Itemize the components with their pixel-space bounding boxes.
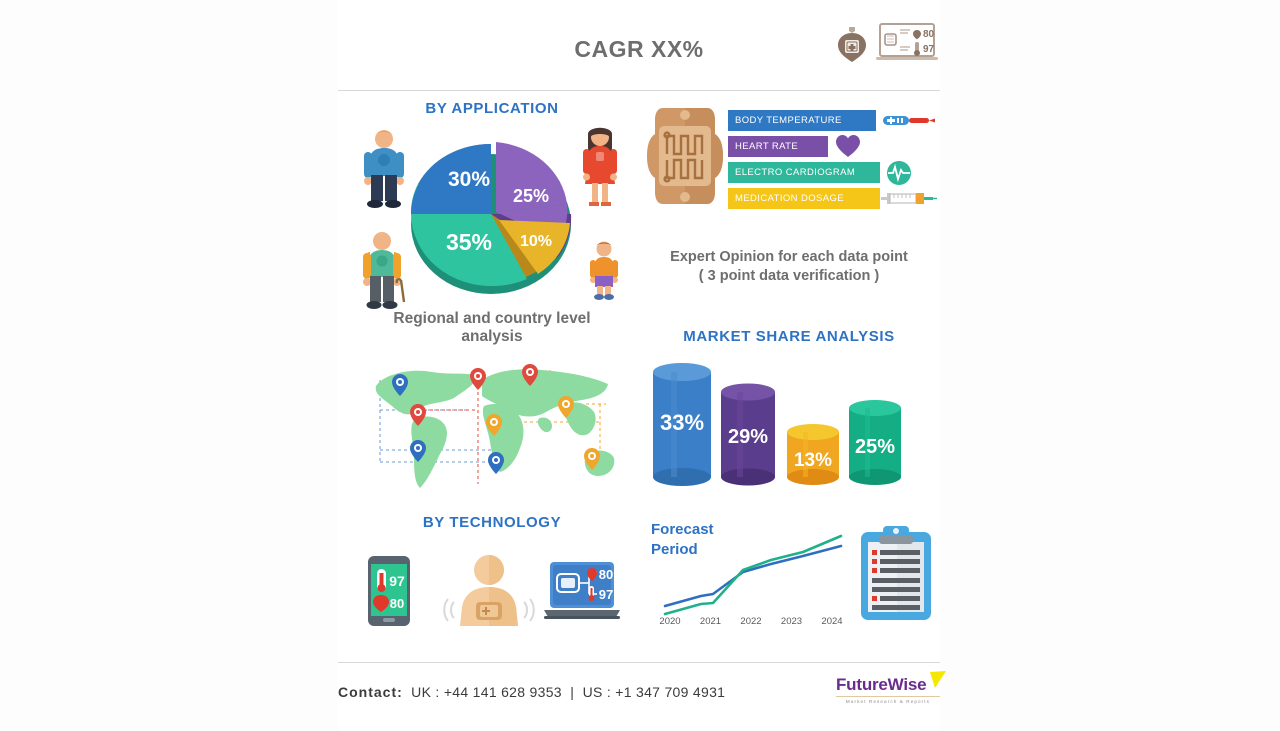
thermometer-icon [883,113,935,133]
cylinder-bar-2: 29% [721,384,775,486]
laptop-vitals-icon: 80 97 [876,23,938,68]
phone-heart-value: 80 [390,596,404,611]
heart-icon [835,134,861,163]
pie-label-35: 35% [446,229,492,255]
market-share-title: MARKET SHARE ANALYSIS [643,328,935,345]
expert-opinion-note: Expert Opinion for each data point ( 3 p… [643,248,935,286]
section-by-application: BY APPLICATION [352,100,632,330]
biosensor-patch-icon [643,104,727,213]
footer-divider [338,662,940,663]
expert-note-line2: ( 3 point data verification ) [643,267,935,286]
regional-title-line2: analysis [352,328,632,346]
world-map [370,362,616,500]
infographic-page: CAGR XX% [0,0,1280,731]
person-adult-woman-icon [577,124,623,215]
year-label: 2024 [813,616,851,627]
page-canvas: CAGR XX% [338,0,940,731]
header: CAGR XX% [338,18,940,73]
brand-tagline: Market Research & Reports [836,699,940,704]
person-elderly-man-icon [360,230,412,315]
us-phone[interactable]: +1 347 709 4931 [615,684,725,700]
forecast-series-green [665,536,841,614]
cylinder-bar-4: 25% [849,400,901,485]
regional-title-line1: Regional and country level [352,310,632,328]
cylinder-bar-chart: 33% 29% [643,358,935,493]
label-heart-rate: HEART RATE [728,136,828,157]
cyl-label-13: 13% [794,450,832,471]
pie-label-10: 10% [520,233,552,250]
smartphone-vitals-icon: 97 80 [368,556,410,631]
laptop-tech-heart-value: 80 [599,567,613,582]
section-by-technology: BY TECHNOLOGY 97 80 [352,514,632,654]
laptop-heart-value: 80 [923,29,935,40]
brand-name: FutureWise [836,675,926,694]
person-child-boy-icon [588,240,620,307]
footer: Contact: UK : +44 141 628 9353 | US : +1… [338,672,940,722]
by-application-title: BY APPLICATION [352,100,632,117]
label-body-temperature: BODY TEMPERATURE [728,110,876,131]
cylinder-bar-3: 13% [787,424,839,485]
technology-icon-group: 97 80 [362,554,622,649]
contact-separator: | [570,684,574,700]
forecast-year-axis: 2020 2021 2022 2023 2024 [651,616,851,627]
forecast-series-blue [665,546,841,606]
header-icon-group: 80 97 [837,23,938,68]
uk-phone[interactable]: +44 141 628 9353 [444,684,562,700]
contact-label: Contact: [338,684,403,700]
body-sensor-icon [440,554,538,631]
pie-label-25: 25% [513,186,549,206]
us-label: US : [583,684,611,700]
year-label: 2022 [732,616,770,627]
section-regional-analysis: Regional and country level analysis [352,310,632,510]
expert-note-line1: Expert Opinion for each data point [643,248,935,267]
regional-title: Regional and country level analysis [352,310,632,346]
uk-label: UK : [411,684,439,700]
phone-temp-value: 97 [389,573,405,589]
brand-logo[interactable]: FutureWise Market Research & Reports [836,676,940,704]
cyl-label-25: 25% [855,436,895,458]
year-label: 2023 [773,616,811,627]
label-medication-dosage: MEDICATION DOSAGE [728,188,880,209]
year-label: 2021 [692,616,730,627]
section-sensor-parameters: BODY TEMPERATURE HEART RATE ELECTRO CARD… [643,100,935,315]
syringe-icon [881,190,937,212]
laptop-temp-value: 97 [923,44,935,55]
contact-line: Contact: UK : +44 141 628 9353 | US : +1… [338,684,725,700]
brand-triangle-icon [929,671,946,693]
cyl-label-29: 29% [728,426,768,448]
heart-medical-icon [837,25,867,68]
laptop-tech-temp-value: 97 [599,587,613,602]
laptop-monitor-icon: 80 97 [544,562,620,625]
section-forecast-period: Forecast Period 2020 2021 2022 2023 2024 [643,514,935,654]
pie-chart: 30% 25% 10% 35% [407,128,579,306]
label-electro-cardiogram: ELECTRO CARDIOGRAM [728,162,880,183]
cyl-label-33: 33% [660,410,704,435]
year-label: 2020 [651,616,689,627]
section-market-share: MARKET SHARE ANALYSIS 33% [643,328,935,513]
person-adult-man-icon [360,128,408,215]
clipboard-checklist-icon [861,526,931,625]
content-grid: BY APPLICATION [338,78,940,648]
pie-label-30: 30% [448,168,490,191]
ecg-pulse-icon [886,160,912,191]
brand-divider [836,696,940,697]
by-technology-title: BY TECHNOLOGY [352,514,632,531]
cylinder-bar-1: 33% [653,363,711,486]
